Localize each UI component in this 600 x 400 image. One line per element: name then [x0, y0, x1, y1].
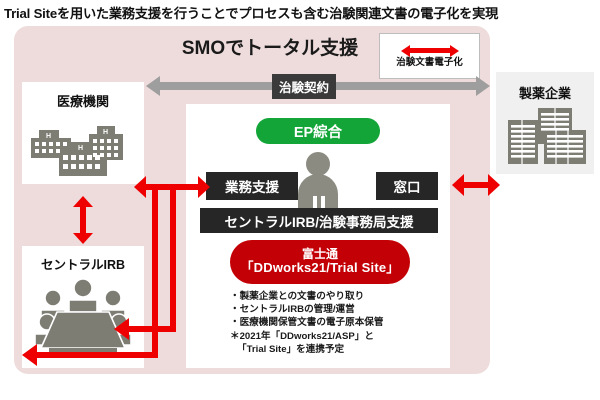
doc-digitization-label: 治験文書電子化	[396, 58, 463, 68]
svg-text:H: H	[78, 145, 83, 152]
red-elbow-arrowhead-inner	[114, 318, 129, 340]
bullet-item: ・セントラルIRBの管理/運営	[230, 303, 430, 316]
medical-institution-card: 医療機関	[22, 82, 144, 184]
pharma-company-card: 製薬企業	[496, 72, 594, 174]
svg-text:H: H	[103, 129, 108, 136]
red-elbow-line-inner-h	[128, 326, 176, 332]
red-double-arrow-icon	[401, 45, 459, 57]
bullet-item: 「Trial Site」を連携予定	[230, 343, 430, 356]
bullet-item: ＊2021年「DDworks21/ASP」と	[230, 330, 430, 343]
red-double-arrow-medical-to-gyomu	[134, 176, 210, 198]
fujitsu-trial-site-pill: 富士通 「DDworks21/Trial Site」	[230, 240, 410, 284]
meeting-table-people-icon	[27, 276, 139, 358]
irb-title: セントラルIRB	[22, 254, 144, 273]
page-title: Trial Siteを用いた業務支援を行うことでプロセスも含む治験関連文書の電子…	[4, 3, 598, 22]
doc-digitization-box: 治験文書電子化	[379, 33, 480, 79]
central-irb-card: セントラルIRB	[22, 246, 144, 368]
bullet-item: ・医療機関保管文書の電子原本保管	[230, 316, 430, 329]
red-vertical-double-arrow-icon	[71, 196, 95, 244]
red-double-arrow-madoguchi-to-pharma	[452, 174, 500, 196]
pharma-title: 製薬企業	[496, 83, 594, 102]
box-gyomu-shien: 業務支援	[206, 172, 298, 200]
red-elbow-line-outer-h	[36, 352, 158, 358]
ep-bullet-list: ・製薬企業との文書のやり取り ・セントラルIRBの管理/運営 ・医療機関保管文書…	[230, 290, 430, 356]
red-elbow-line-inner	[170, 184, 176, 332]
diagram-root: Trial Siteを用いた業務支援を行うことでプロセスも含む治験関連文書の電子…	[0, 0, 600, 400]
bullet-item: ・製薬企業との文書のやり取り	[230, 290, 430, 303]
red-elbow-arrowhead-outer	[22, 344, 37, 366]
box-madoguchi: 窓口	[376, 172, 438, 200]
medical-title: 医療機関	[22, 91, 144, 110]
svg-text:H: H	[46, 133, 51, 140]
box-irb-support: セントラルIRB/治験事務局支援	[200, 208, 438, 233]
person-icon	[294, 150, 342, 212]
contract-label: 治験契約	[272, 74, 336, 99]
panel-heading: SMOでトータル支援	[150, 32, 390, 60]
fujitsu-line1: 富士通	[302, 248, 338, 261]
hospital-buildings-icon: HHH	[25, 116, 143, 178]
fujitsu-line2: 「DDworks21/Trial Site」	[240, 261, 399, 276]
office-buildings-icon	[504, 104, 590, 168]
ep-center-card: EP綜合 業務支援 窓口 セントラルIRB/治験事務局支援 富士通 「DDwor…	[186, 104, 450, 368]
ep-badge: EP綜合	[256, 118, 380, 144]
